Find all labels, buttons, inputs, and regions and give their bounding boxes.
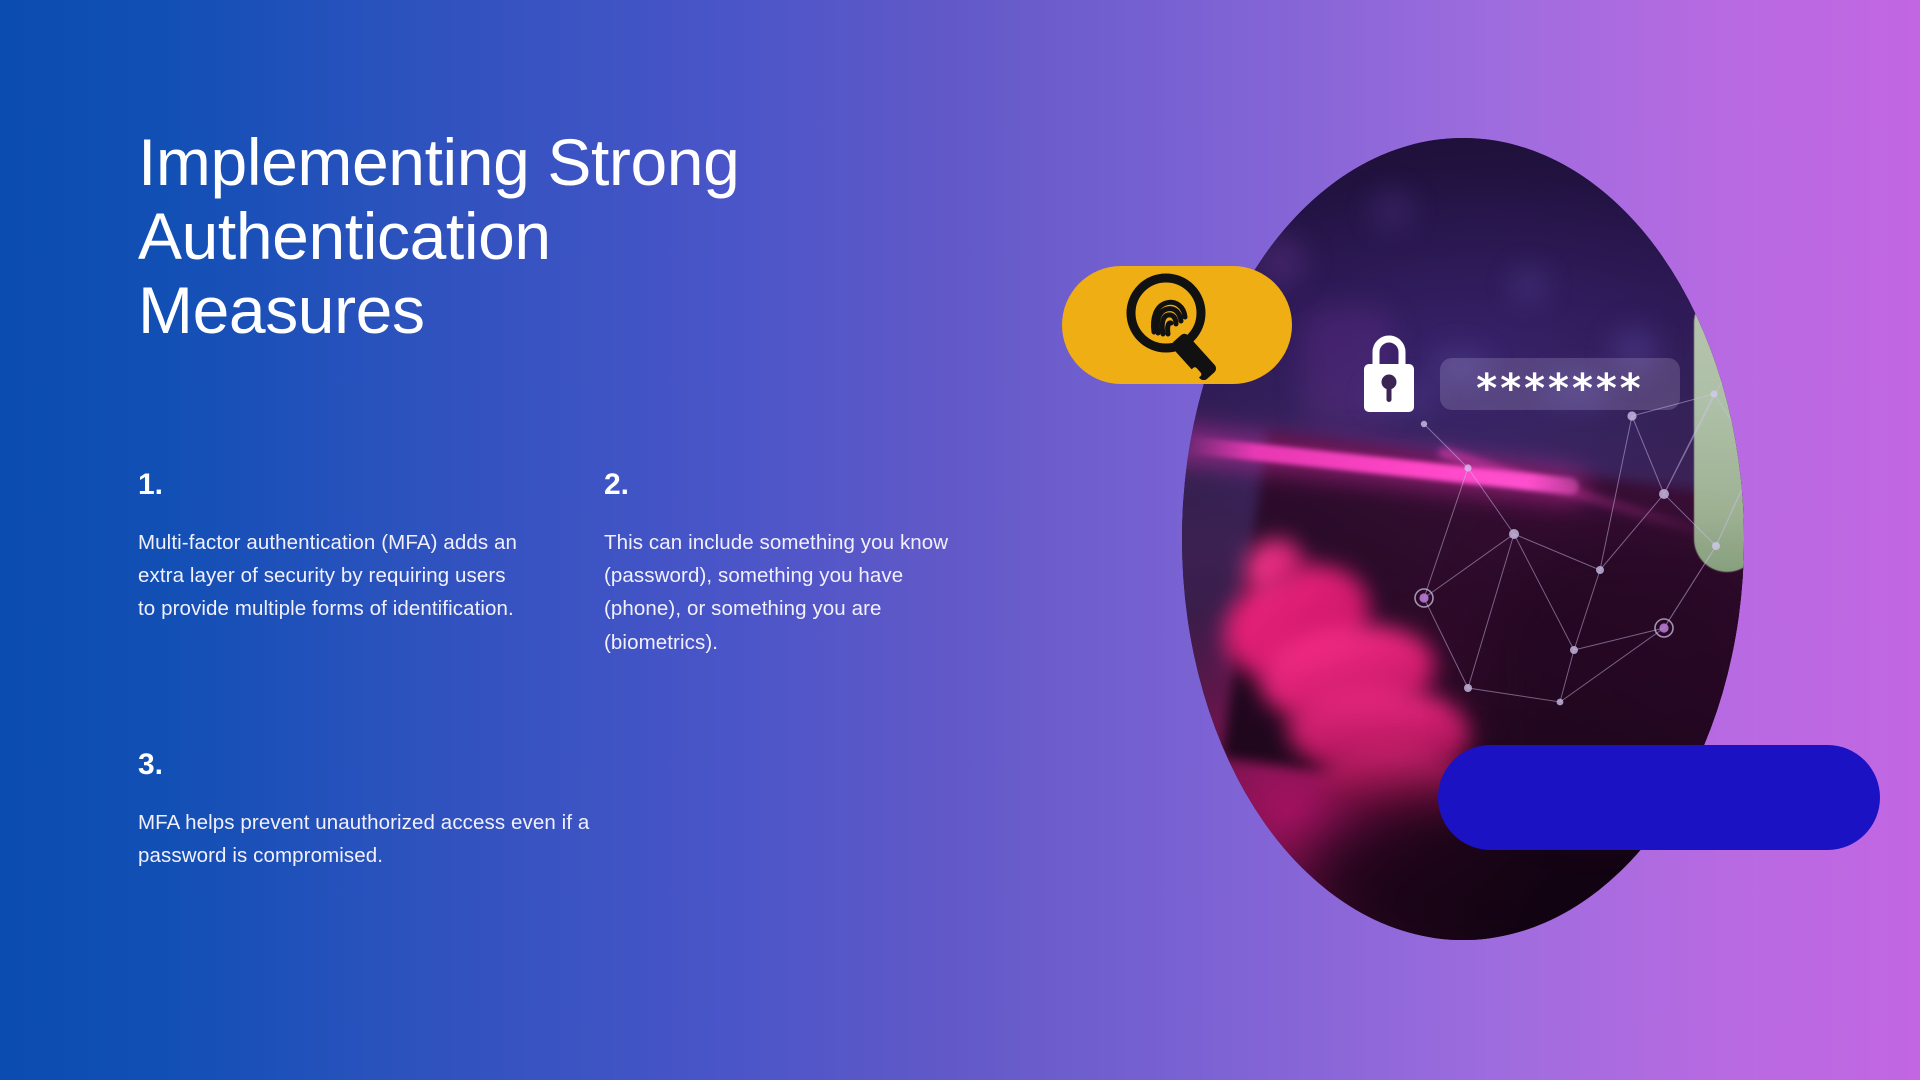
list-item-3-text: MFA helps prevent unauthorized access ev… [138, 806, 658, 872]
items-row-first: 1. Multi-factor authentication (MFA) add… [138, 470, 1038, 750]
fingerprint-magnifier-icon [1118, 270, 1236, 380]
list-item-1-number: 1. [138, 470, 520, 500]
fingerprint-badge-pill[interactable] [1062, 266, 1292, 384]
blue-accent-pill [1438, 745, 1880, 850]
list-item-3: 3. MFA helps prevent unauthorized access… [138, 750, 658, 872]
list-item-2: 2. This can include something you know (… [604, 470, 986, 659]
password-input-field[interactable]: ******* [1440, 358, 1680, 410]
password-masked-value: ******* [1476, 369, 1643, 409]
bokeh-spot [1512, 268, 1546, 302]
padlock-icon [1360, 332, 1418, 414]
slide-root: Implementing Strong Authentication Measu… [0, 0, 1920, 1080]
list-item-2-text: This can include something you know (pas… [604, 526, 986, 659]
list-item-1-text: Multi-factor authentication (MFA) adds a… [138, 526, 520, 626]
list-item-3-number: 3. [138, 750, 658, 780]
bokeh-spot [1372, 190, 1412, 230]
list-item-2-number: 2. [604, 470, 986, 500]
numbered-items-group: 1. Multi-factor authentication (MFA) add… [138, 470, 1038, 750]
page-title: Implementing Strong Authentication Measu… [138, 126, 958, 348]
visual-composition: ******* [1040, 0, 1920, 1080]
list-item-1: 1. Multi-factor authentication (MFA) add… [138, 470, 520, 626]
content-column: Implementing Strong Authentication Measu… [138, 0, 1038, 1080]
